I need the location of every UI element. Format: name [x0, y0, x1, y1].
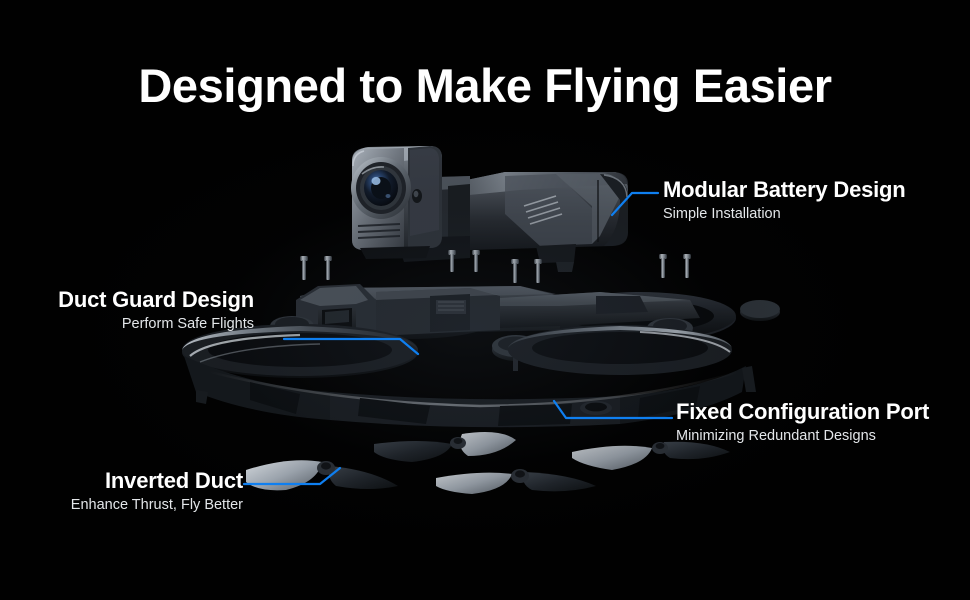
page-title: Designed to Make Flying Easier: [0, 62, 970, 109]
callout-duct-guard: Duct Guard Design Perform Safe Flights: [58, 288, 254, 333]
callout-title: Duct Guard Design: [58, 288, 254, 313]
motor-hub: [740, 300, 780, 321]
propeller-blades: [246, 432, 730, 494]
callout-title: Inverted Duct: [71, 469, 243, 494]
callout-fixed-configuration-port: Fixed Configuration Port Minimizing Redu…: [676, 400, 929, 445]
callout-title: Fixed Configuration Port: [676, 400, 929, 425]
camera-gimbal-module: [351, 146, 628, 272]
callout-title: Modular Battery Design: [663, 178, 906, 203]
duct-guard-ring: [508, 325, 732, 375]
callout-subtitle: Perform Safe Flights: [58, 315, 254, 333]
callout-subtitle: Enhance Thrust, Fly Better: [71, 496, 243, 514]
mounting-screws: [300, 250, 691, 283]
callout-inverted-duct: Inverted Duct Enhance Thrust, Fly Better: [71, 469, 243, 514]
callout-modular-battery: Modular Battery Design Simple Installati…: [663, 178, 906, 223]
callout-subtitle: Minimizing Redundant Designs: [676, 427, 929, 445]
callout-subtitle: Simple Installation: [663, 205, 906, 223]
infographic-canvas: Designed to Make Flying Easier Modular B…: [0, 0, 970, 600]
camera-lens: [351, 157, 411, 219]
